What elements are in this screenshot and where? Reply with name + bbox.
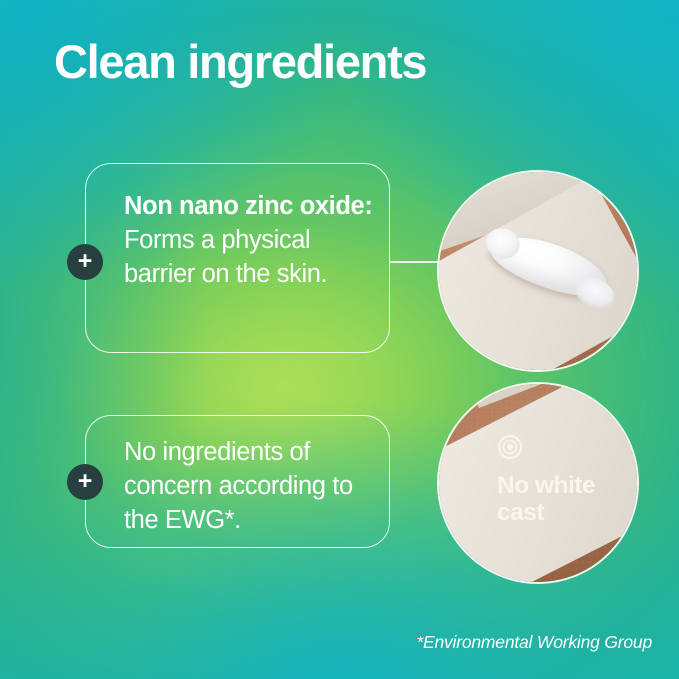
ad-creative-canvas: Clean ingredients Non nano zinc oxide: F… [0,0,679,679]
plus-badge-ewg: + [67,464,103,500]
benefit-card-zinc-oxide: Non nano zinc oxide: Forms a physical ba… [85,163,390,353]
plus-icon: + [78,469,93,494]
photo-no-white-cast: No white cast [437,382,639,584]
benefit-card-zinc-oxide-body: Forms a physical barrier on the skin. [124,226,327,288]
plus-badge-zinc-oxide: + [67,244,103,280]
benefit-card-ewg-text: No ingredients of concern according to t… [124,435,386,537]
benefit-card-ewg-body: No ingredients of concern according to t… [124,438,353,534]
benefit-card-ewg: No ingredients of concern according to t… [85,415,390,548]
target-icon [497,434,523,460]
no-white-cast-label: No white cast [497,472,627,526]
plus-icon: + [78,249,93,274]
benefit-card-zinc-oxide-text: Non nano zinc oxide: Forms a physical ba… [124,189,376,291]
footnote: *Environmental Working Group [416,632,652,653]
photo-cream-swatch [437,170,639,372]
no-white-cast-overlay: No white cast [497,434,627,526]
page-title: Clean ingredients [54,34,614,90]
benefit-card-zinc-oxide-heading: Non nano zinc oxide: [124,192,372,220]
